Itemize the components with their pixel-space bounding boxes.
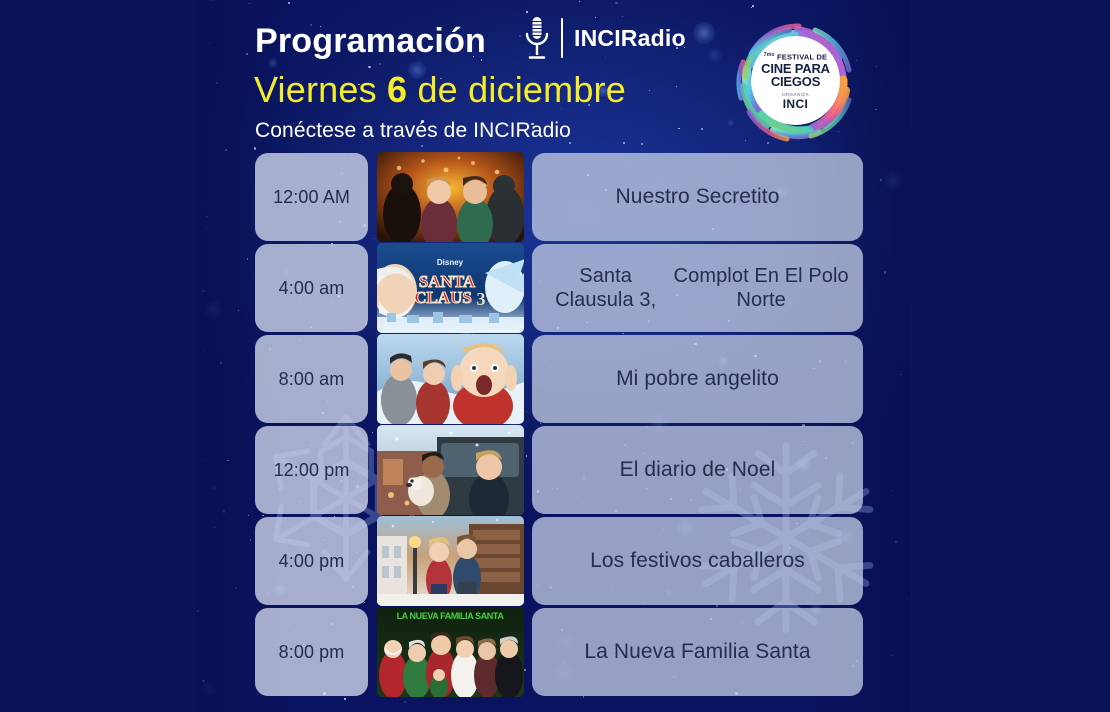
program-title[interactable]: Mi pobre angelito [532,335,863,423]
svg-text:3: 3 [477,289,486,309]
program-title-line: Santa Clausula 3, [542,264,669,313]
schedule-row[interactable]: 12:00 AMNuestro Secretito [255,153,863,241]
schedule-row[interactable]: 4:00 amDisneySANTACLAUS3Santa Clausula 3… [255,244,863,332]
time-slot[interactable]: 4:00 pm [255,517,368,605]
program-title-line: El diario de Noel [620,457,776,483]
svg-text:Disney: Disney [437,258,464,267]
right-margin-band [910,0,1110,712]
left-margin-band [0,0,196,712]
program-title-line: Mi pobre angelito [616,366,779,392]
svg-text:LA NUEVA FAMILIA SANTA: LA NUEVA FAMILIA SANTA [397,611,505,621]
nuestro-secretito-poster[interactable] [377,152,524,242]
santa-claus-3-poster[interactable]: DisneySANTACLAUS3 [377,243,524,333]
schedule-row[interactable]: 8:00 pmLA NUEVA FAMILIA SANTALa Nueva Fa… [255,608,863,696]
program-title[interactable]: Los festivos caballeros [532,517,863,605]
svg-text:CLAUS: CLAUS [414,288,472,307]
program-title-line: Los festivos caballeros [590,548,805,574]
time-slot[interactable]: 8:00 pm [255,608,368,696]
program-title[interactable]: El diario de Noel [532,426,863,514]
los-festivos-caballeros-poster[interactable] [377,516,524,606]
program-title-line: Complot En El Polo Norte [669,264,853,313]
time-slot[interactable]: 12:00 pm [255,426,368,514]
program-title-line: La Nueva Familia Santa [584,639,810,665]
mi-pobre-angelito-poster[interactable] [377,334,524,424]
schedule-row[interactable]: 4:00 pmLos festivos caballeros [255,517,863,605]
la-nueva-familia-santa-poster[interactable]: LA NUEVA FAMILIA SANTA [377,607,524,697]
schedule-row[interactable]: 12:00 pmEl diario de Noel [255,426,863,514]
program-title[interactable]: Santa Clausula 3,Complot En El Polo Nort… [532,244,863,332]
time-slot[interactable]: 8:00 am [255,335,368,423]
time-slot[interactable]: 12:00 AM [255,153,368,241]
program-title[interactable]: Nuestro Secretito [532,153,863,241]
program-title-line: Nuestro Secretito [616,184,780,210]
time-slot[interactable]: 4:00 am [255,244,368,332]
el-diario-de-noel-poster[interactable] [377,425,524,515]
programming-poster: Programación Viernes 6 de diciembre Coné… [0,0,1110,712]
program-title[interactable]: La Nueva Familia Santa [532,608,863,696]
schedule-row[interactable]: 8:00 amMi pobre angelito [255,335,863,423]
